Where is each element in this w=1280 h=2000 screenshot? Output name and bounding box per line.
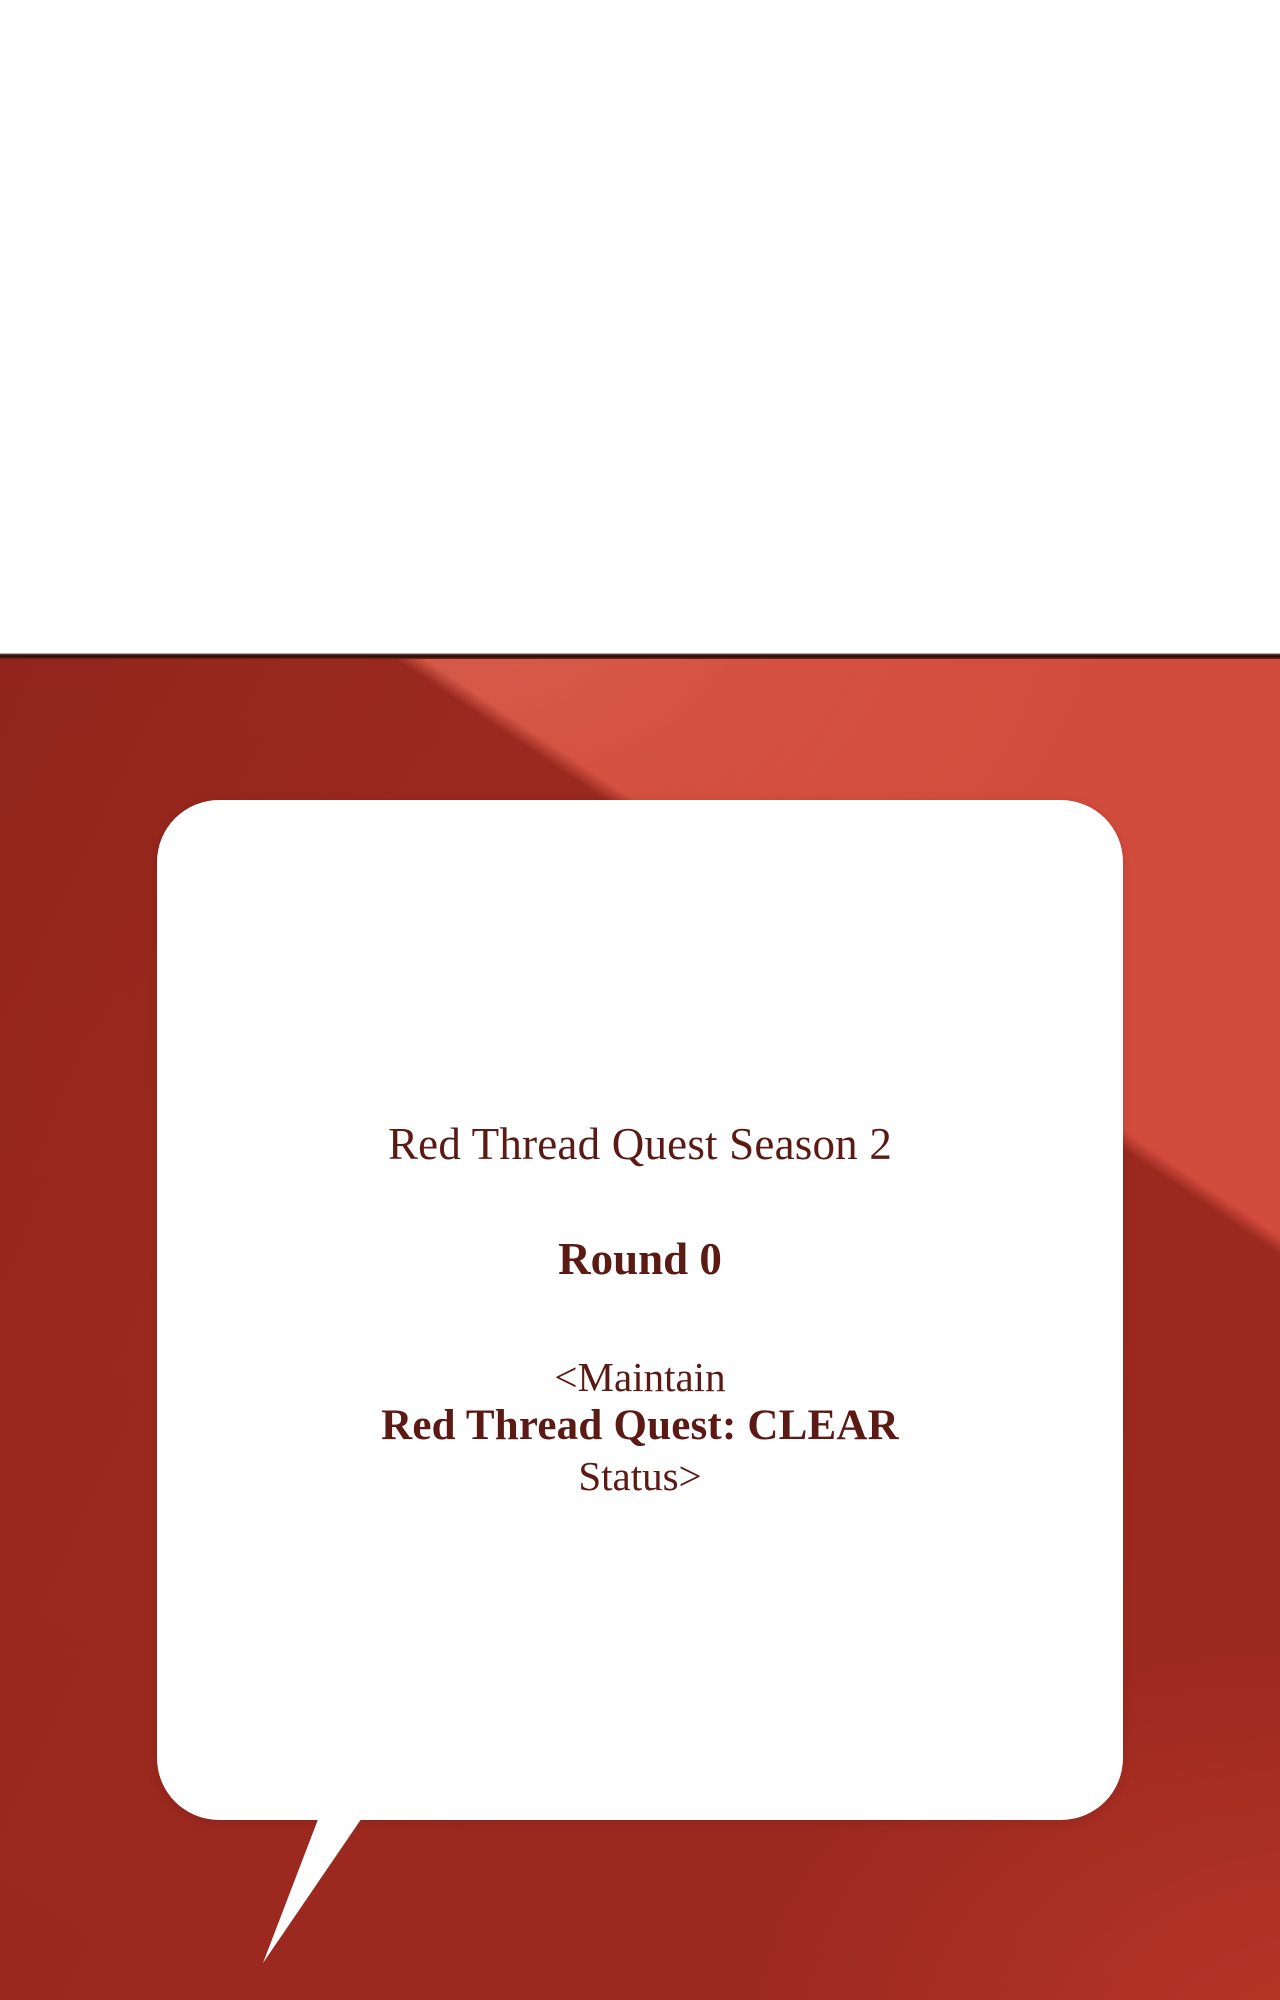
red-background-panel: Red Thread Quest Season 2 Round 0 <Maint… xyxy=(0,659,1280,2000)
comic-page: Red Thread Quest Season 2 Round 0 <Maint… xyxy=(0,0,1280,2000)
bubble-line-status-open: <Maintain xyxy=(381,1353,899,1401)
speech-bubble-text: Red Thread Quest Season 2 Round 0 <Maint… xyxy=(157,800,1123,1820)
speech-bubble: Red Thread Quest Season 2 Round 0 <Maint… xyxy=(157,800,1123,1820)
bubble-line-round: Round 0 xyxy=(558,1235,722,1285)
bubble-line-title: Red Thread Quest Season 2 xyxy=(388,1120,892,1170)
bubble-line-status-close: Status> xyxy=(381,1452,899,1500)
bubble-line-status-emphasis: Red Thread Quest: CLEAR xyxy=(381,1401,899,1452)
blank-white-gutter xyxy=(0,0,1280,653)
bubble-status-block: <Maintain Red Thread Quest: CLEAR Status… xyxy=(381,1353,899,1500)
